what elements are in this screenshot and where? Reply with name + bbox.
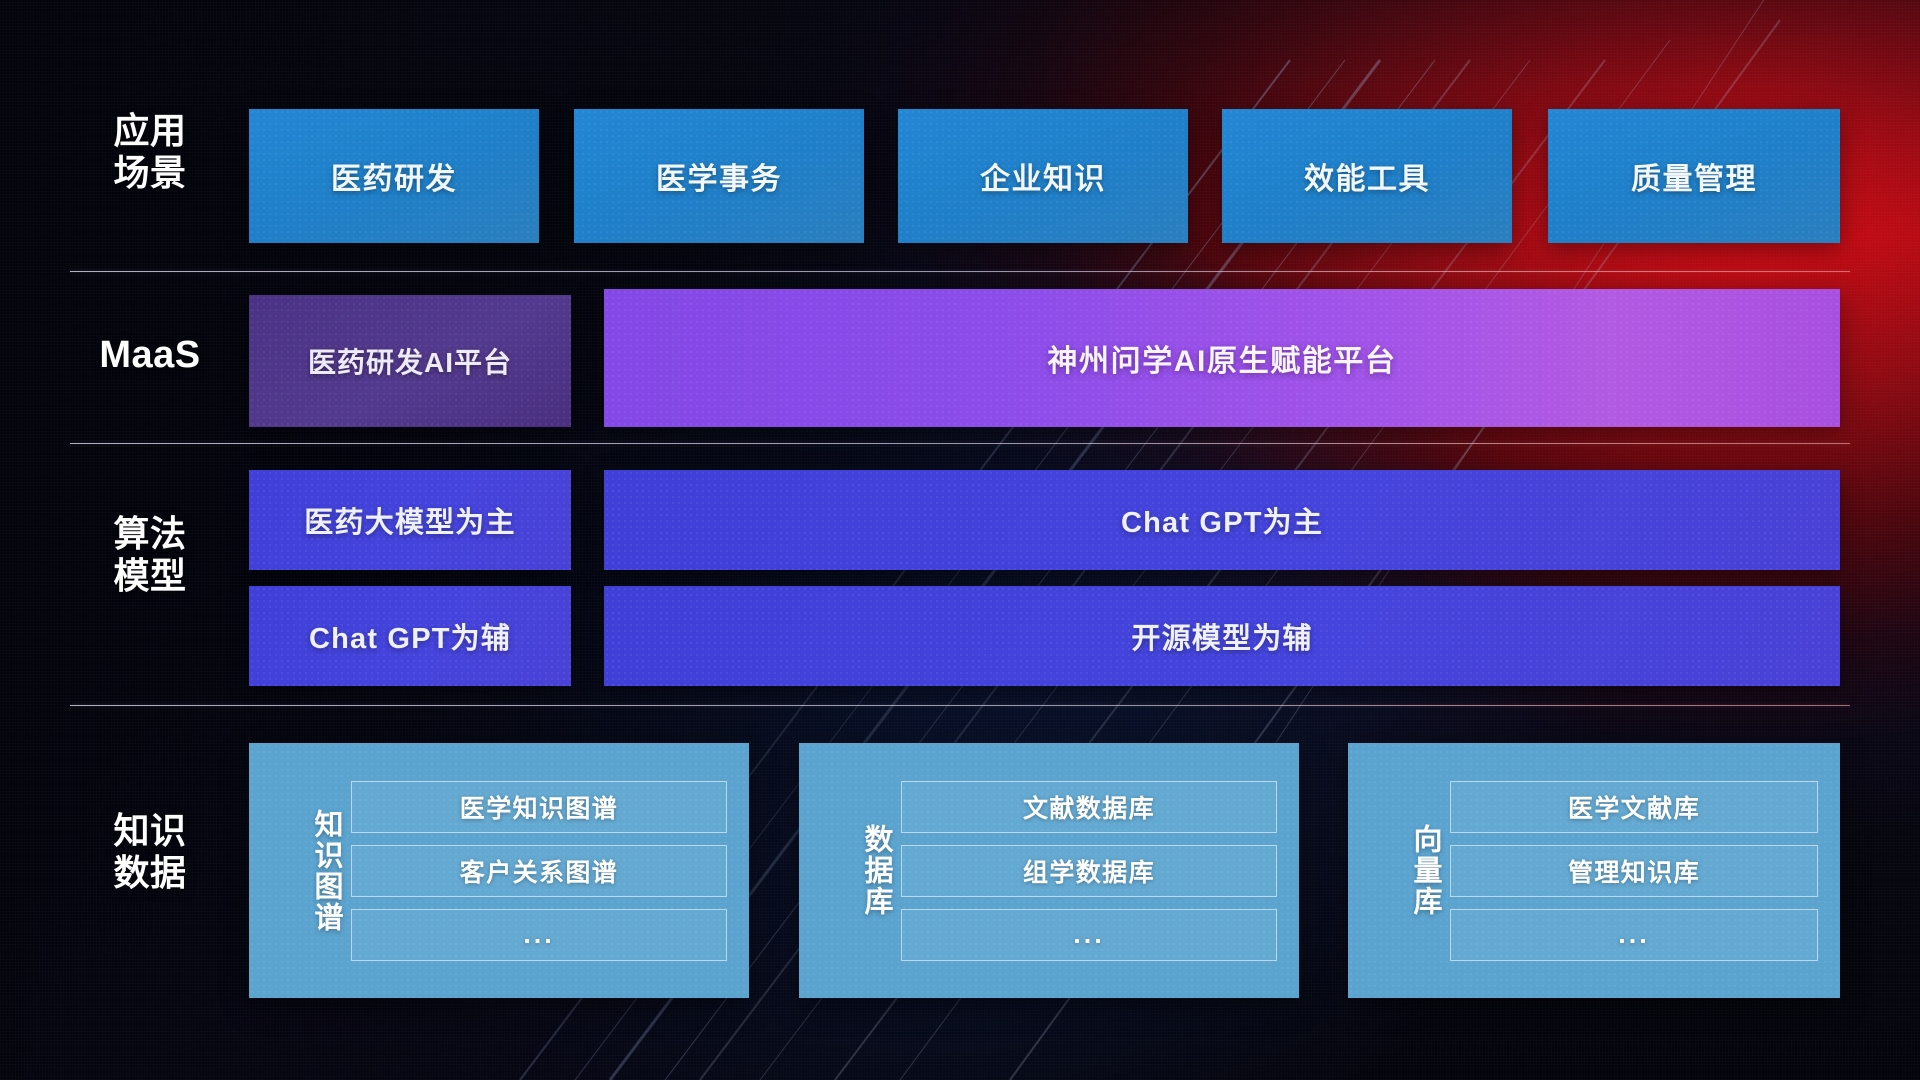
knowledge-item[interactable]: 管理知识库 — [1450, 845, 1818, 897]
algo-box-label: 医药大模型为主 — [304, 499, 515, 541]
algo-box-chatgpt-primary[interactable]: Chat GPT为主 — [604, 470, 1840, 570]
knowledge-item[interactable]: 医学知识图谱 — [351, 781, 727, 833]
knowledge-group-vertical-label: 向量库 — [1366, 824, 1440, 917]
scene-box-label: 企业知识 — [980, 154, 1106, 198]
knowledge-item-more[interactable]: ... — [1450, 909, 1818, 961]
knowledge-group-graph[interactable]: 知识图谱 医学知识图谱 客户关系图谱 ... — [249, 743, 749, 998]
maas-box-shenzhou-wenxue-platform[interactable]: 神州问学AI原生赋能平台 — [604, 289, 1840, 427]
knowledge-item[interactable]: 文献数据库 — [901, 781, 1277, 833]
row-label-maas: MaaS — [70, 333, 230, 378]
maas-box-label: 神州问学AI原生赋能平台 — [1047, 336, 1396, 380]
scene-box-enterprise-knowledge[interactable]: 企业知识 — [898, 109, 1188, 243]
algo-box-label: Chat GPT为主 — [1121, 499, 1323, 541]
knowledge-item[interactable]: 组学数据库 — [901, 845, 1277, 897]
knowledge-group-database[interactable]: 数据库 文献数据库 组学数据库 ... — [799, 743, 1299, 998]
row-label-knowledge-data: 知识 数据 — [70, 810, 230, 895]
maas-box-label: 医药研发AI平台 — [308, 341, 512, 381]
knowledge-item[interactable]: 医学文献库 — [1450, 781, 1818, 833]
scene-box-label: 质量管理 — [1631, 154, 1757, 198]
knowledge-item-more[interactable]: ... — [351, 909, 727, 961]
knowledge-group-vertical-label: 数据库 — [817, 824, 891, 917]
diagram-canvas: 应用 场景 医药研发 医学事务 企业知识 效能工具 质量管理 MaaS 医药研发… — [0, 0, 1920, 1080]
knowledge-group-vector-store[interactable]: 向量库 医学文献库 管理知识库 ... — [1348, 743, 1840, 998]
maas-box-medicine-ai-platform[interactable]: 医药研发AI平台 — [249, 295, 571, 427]
knowledge-group-vertical-label: 知识图谱 — [267, 809, 341, 933]
algo-box-label: Chat GPT为辅 — [309, 615, 511, 657]
algo-box-medicine-llm-primary[interactable]: 医药大模型为主 — [249, 470, 571, 570]
row-label-application-scenarios: 应用 场景 — [70, 110, 230, 195]
scene-box-quality-management[interactable]: 质量管理 — [1548, 109, 1840, 243]
scene-box-medicine-rnd[interactable]: 医药研发 — [249, 109, 539, 243]
scene-box-medical-affairs[interactable]: 医学事务 — [574, 109, 864, 243]
row-divider-3 — [70, 705, 1850, 706]
scene-box-label: 医学事务 — [656, 154, 782, 198]
knowledge-item-more[interactable]: ... — [901, 909, 1277, 961]
row-divider-1 — [70, 271, 1850, 272]
scene-box-efficiency-tools[interactable]: 效能工具 — [1222, 109, 1512, 243]
row-label-algorithm-models: 算法 模型 — [70, 513, 230, 598]
scene-box-label: 效能工具 — [1304, 154, 1430, 198]
knowledge-item[interactable]: 客户关系图谱 — [351, 845, 727, 897]
algo-box-label: 开源模型为辅 — [1131, 615, 1312, 657]
row-divider-2 — [70, 443, 1850, 444]
scene-box-label: 医药研发 — [331, 154, 457, 198]
algo-box-opensource-secondary[interactable]: 开源模型为辅 — [604, 586, 1840, 686]
algo-box-chatgpt-secondary[interactable]: Chat GPT为辅 — [249, 586, 571, 686]
